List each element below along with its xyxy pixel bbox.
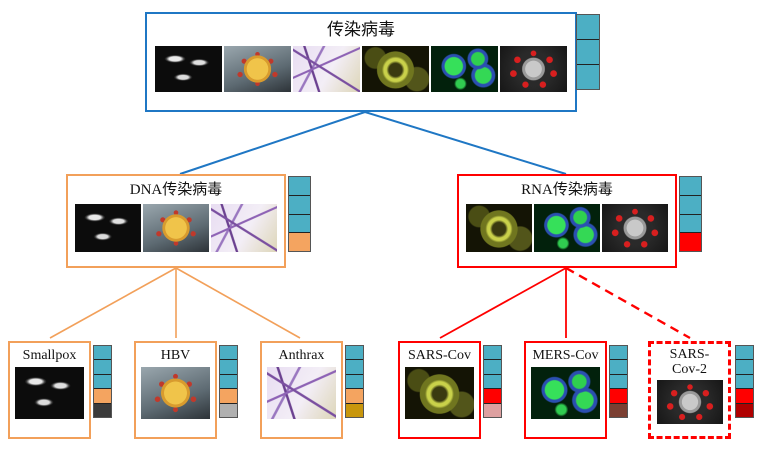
- thumbnail-mers: [534, 204, 600, 252]
- indicator-cell: [346, 404, 363, 417]
- thumbnail-mers: [531, 367, 600, 419]
- node-sars-cov-2[interactable]: SARS- Cov-2: [648, 341, 731, 439]
- node-root-thumbnails: [155, 46, 567, 92]
- indicator-cell: [577, 15, 599, 40]
- indicator-cell: [484, 404, 501, 417]
- indicator-cell: [289, 196, 310, 215]
- node-dna-thumbnails: [75, 204, 277, 252]
- indicator-cell: [680, 215, 701, 234]
- thumbnail-smallpox: [75, 204, 141, 252]
- indicator-cell: [289, 215, 310, 234]
- indicator-cell: [94, 389, 111, 403]
- indicator-bar-anthrax[interactable]: [345, 345, 364, 418]
- indicator-cell: [610, 375, 627, 389]
- node-anthrax-label: Anthrax: [262, 343, 341, 363]
- node-sars-cov-2-label: SARS- Cov-2: [651, 344, 728, 378]
- thumbnail-sars: [466, 204, 532, 252]
- indicator-cell: [610, 389, 627, 403]
- thumbnail-sars: [362, 46, 429, 92]
- node-sars-cov[interactable]: SARS-Cov: [398, 341, 481, 439]
- indicator-cell: [220, 389, 237, 403]
- indicator-cell: [610, 346, 627, 360]
- node-smallpox[interactable]: Smallpox: [8, 341, 91, 439]
- node-rna[interactable]: RNA传染病毒: [457, 174, 677, 268]
- thumbnail-anthrax: [267, 367, 336, 419]
- edge-dna-anthrax: [176, 268, 300, 338]
- indicator-cell: [484, 375, 501, 389]
- thumbnail-smallpox: [15, 367, 84, 419]
- indicator-cell: [220, 375, 237, 389]
- indicator-cell: [289, 177, 310, 196]
- indicator-cell: [577, 65, 599, 89]
- node-hbv-label: HBV: [136, 343, 215, 363]
- thumbnail-mers: [431, 46, 498, 92]
- node-mers-cov[interactable]: MERS-Cov: [524, 341, 607, 439]
- thumbnail-cov2: [602, 204, 668, 252]
- node-rna-thumbnails: [466, 204, 668, 252]
- diagram-canvas: 传染病毒 DNA传染病毒 RNA传染病毒: [0, 0, 761, 449]
- indicator-cell: [346, 346, 363, 360]
- indicator-bar-smallpox[interactable]: [93, 345, 112, 418]
- indicator-cell: [736, 389, 753, 403]
- indicator-cell: [577, 40, 599, 65]
- node-smallpox-label: Smallpox: [10, 343, 89, 363]
- node-mers-cov-label: MERS-Cov: [526, 343, 605, 363]
- indicator-cell: [680, 196, 701, 215]
- indicator-bar-mers-cov[interactable]: [609, 345, 628, 418]
- indicator-cell: [220, 346, 237, 360]
- indicator-cell: [94, 360, 111, 374]
- node-dna[interactable]: DNA传染病毒: [66, 174, 286, 268]
- thumbnail-anthrax: [293, 46, 360, 92]
- indicator-bar-rna[interactable]: [679, 176, 702, 252]
- indicator-cell: [610, 360, 627, 374]
- edge-root-dna: [180, 112, 365, 174]
- thumbnail-hbv: [143, 204, 209, 252]
- indicator-cell: [484, 346, 501, 360]
- node-hbv[interactable]: HBV: [134, 341, 217, 439]
- node-root-label: 传染病毒: [147, 14, 575, 40]
- indicator-cell: [220, 360, 237, 374]
- indicator-cell: [680, 233, 701, 251]
- indicator-bar-root[interactable]: [576, 14, 600, 90]
- indicator-cell: [289, 233, 310, 251]
- indicator-cell: [736, 346, 753, 360]
- indicator-cell: [736, 404, 753, 417]
- indicator-cell: [346, 389, 363, 403]
- thumbnail-cov2: [657, 380, 723, 424]
- node-anthrax[interactable]: Anthrax: [260, 341, 343, 439]
- indicator-cell: [94, 346, 111, 360]
- thumbnail-cov2: [500, 46, 567, 92]
- indicator-cell: [680, 177, 701, 196]
- indicator-cell: [736, 375, 753, 389]
- node-root[interactable]: 传染病毒: [145, 12, 577, 112]
- indicator-cell: [220, 404, 237, 417]
- indicator-cell: [484, 389, 501, 403]
- indicator-cell: [736, 360, 753, 374]
- indicator-cell: [484, 360, 501, 374]
- node-rna-label: RNA传染病毒: [459, 176, 675, 199]
- thumbnail-smallpox: [155, 46, 222, 92]
- node-dna-label: DNA传染病毒: [68, 176, 284, 199]
- indicator-bar-sars-cov-2[interactable]: [735, 345, 754, 418]
- indicator-bar-sars-cov[interactable]: [483, 345, 502, 418]
- thumbnail-hbv: [224, 46, 291, 92]
- indicator-bar-dna[interactable]: [288, 176, 311, 252]
- indicator-cell: [610, 404, 627, 417]
- edge-root-rna: [365, 112, 566, 174]
- thumbnail-sars: [405, 367, 474, 419]
- indicator-cell: [94, 404, 111, 417]
- node-sars-cov-label: SARS-Cov: [400, 343, 479, 363]
- edge-rna-sars-cov: [440, 268, 566, 338]
- indicator-cell: [346, 375, 363, 389]
- edge-rna-sars-cov-2: [566, 268, 690, 338]
- indicator-bar-hbv[interactable]: [219, 345, 238, 418]
- edge-dna-smallpox: [50, 268, 176, 338]
- indicator-cell: [94, 375, 111, 389]
- indicator-cell: [346, 360, 363, 374]
- thumbnail-anthrax: [211, 204, 277, 252]
- thumbnail-hbv: [141, 367, 210, 419]
